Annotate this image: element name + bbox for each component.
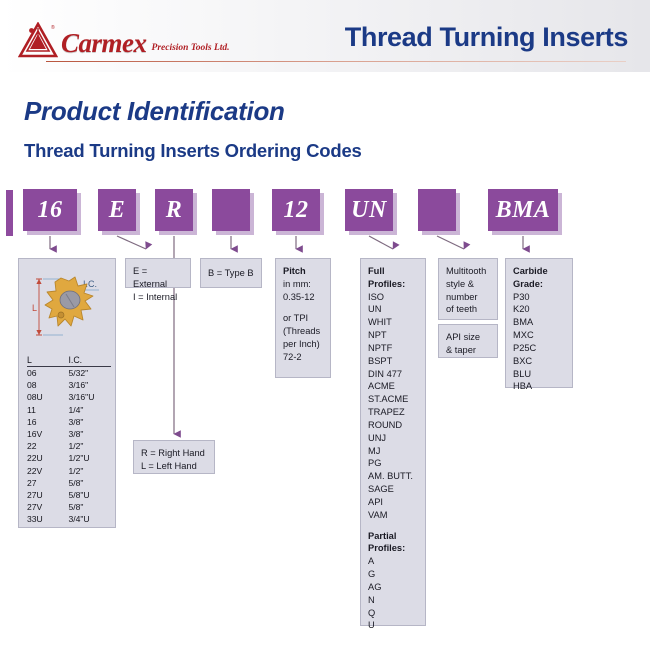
list-item: BMA: [513, 316, 565, 329]
table-row: 22U1/2"U: [27, 452, 111, 464]
table-row: 33U3/4"U: [27, 513, 111, 525]
table-row: 27V5/8": [27, 501, 111, 513]
cell-l: 16V: [27, 428, 48, 440]
line: 0.35-12: [283, 291, 323, 304]
partial-profiles-heading: Partial: [368, 530, 418, 543]
cell-l: 11: [27, 404, 48, 416]
table-row: 275/8": [27, 477, 111, 489]
cell-l: 27V: [27, 501, 48, 513]
thread-profiles-box: Full Profiles: ISOUNWHITNPTNPTFBSPTDIN 4…: [360, 258, 426, 626]
list-item: G: [368, 568, 418, 581]
list-item: AM. BUTT.: [368, 470, 418, 483]
cell-ic: 1/2"U: [48, 452, 111, 464]
carbide-grade-box: Carbide Grade: P30K20BMAMXCP25CBXCBLUHBA: [505, 258, 573, 388]
list-item: HBA: [513, 380, 565, 393]
code-box-4[interactable]: [212, 189, 250, 231]
table-row: 083/16": [27, 379, 111, 391]
carbide-heading: Grade:: [513, 278, 565, 291]
full-profiles-heading: Full: [368, 265, 418, 278]
brand-tagline: Precision Tools Ltd.: [152, 43, 230, 53]
list-item: DIN 477: [368, 368, 418, 381]
line: or TPI: [283, 312, 323, 325]
line: 72-2: [283, 351, 323, 364]
external-internal-box: E = External I = Internal: [125, 258, 191, 288]
line: (Threads: [283, 325, 323, 338]
list-item: BXC: [513, 355, 565, 368]
thread-insert-illustration-icon: L I.C.: [23, 265, 113, 351]
header-title: Thread Turning Inserts: [345, 22, 628, 53]
line: L = Left Hand: [141, 460, 207, 473]
line: per Inch): [283, 338, 323, 351]
list-item: UNJ: [368, 432, 418, 445]
list-item: VAM: [368, 509, 418, 522]
line: I = Internal: [133, 291, 183, 304]
cell-l: 16: [27, 416, 48, 428]
list-item: P25C: [513, 342, 565, 355]
list-item: BSPT: [368, 355, 418, 368]
list-item: ROUND: [368, 419, 418, 432]
cell-l: 22V: [27, 465, 48, 477]
full-profiles-list: ISOUNWHITNPTNPTFBSPTDIN 477ACMEST.ACMETR…: [368, 291, 418, 522]
code-box-1[interactable]: 16: [23, 189, 77, 231]
list-item: PG: [368, 457, 418, 470]
table-header-row: L I.C.: [27, 355, 111, 367]
brand-logo: ® Carmex Precision Tools Ltd.: [18, 22, 230, 58]
list-item: ACME: [368, 380, 418, 393]
list-item: WHIT: [368, 316, 418, 329]
hand-direction-box: R = Right Hand L = Left Hand: [133, 440, 215, 474]
cell-l: 08: [27, 379, 48, 391]
insert-size-table: L I.C. 065/32"083/16"08U3/16"U111/4"163/…: [27, 355, 111, 525]
code-box-8[interactable]: BMA: [488, 189, 558, 231]
cell-ic: 3/16"U: [48, 391, 111, 403]
carbide-grade-list: P30K20BMAMXCP25CBXCBLUHBA: [513, 291, 565, 394]
accent-bar: [6, 190, 13, 236]
carmex-triangle-logo-icon: ®: [18, 22, 58, 58]
cell-l: 06: [27, 367, 48, 380]
code-box-3[interactable]: R: [155, 189, 193, 231]
line: & taper: [446, 344, 490, 357]
cell-l: 33U: [27, 513, 48, 525]
partial-profiles-list: AGAGNQU: [368, 555, 418, 632]
table-row: 16V3/8": [27, 428, 111, 440]
list-item: NPTF: [368, 342, 418, 355]
pitch-heading: Pitch: [283, 265, 323, 278]
table-row: 27U5/8"U: [27, 489, 111, 501]
cell-ic: 1/2": [48, 465, 111, 477]
line: R = Right Hand: [141, 447, 207, 460]
line: E = External: [133, 265, 183, 291]
list-item: TRAPEZ: [368, 406, 418, 419]
line: in mm:: [283, 278, 323, 291]
page-title: Product Identification: [24, 96, 285, 127]
page-subtitle: Thread Turning Inserts Ordering Codes: [24, 140, 362, 162]
list-item: ISO: [368, 291, 418, 304]
list-item: ST.ACME: [368, 393, 418, 406]
cell-ic: 3/8": [48, 416, 111, 428]
list-item: UN: [368, 303, 418, 316]
list-item: SAGE: [368, 483, 418, 496]
svg-text:L: L: [32, 303, 37, 313]
partial-profiles-heading: Profiles:: [368, 542, 418, 555]
list-item: K20: [513, 303, 565, 316]
list-item: BLU: [513, 368, 565, 381]
list-item: MXC: [513, 329, 565, 342]
full-profiles-heading: Profiles:: [368, 278, 418, 291]
carbide-heading: Carbide: [513, 265, 565, 278]
column-header-l: L: [27, 355, 48, 367]
cell-ic: 5/8": [48, 477, 111, 489]
list-item: AG: [368, 581, 418, 594]
list-item: A: [368, 555, 418, 568]
list-item: P30: [513, 291, 565, 304]
column-header-ic: I.C.: [48, 355, 111, 367]
line: of teeth: [446, 303, 490, 316]
svg-text:®: ®: [51, 24, 55, 31]
list-item: Q: [368, 607, 418, 620]
table-row: 111/4": [27, 404, 111, 416]
page-header: ® Carmex Precision Tools Ltd. Thread Tur…: [0, 0, 650, 72]
cell-ic: 5/32": [48, 367, 111, 380]
list-item: N: [368, 594, 418, 607]
line: style &: [446, 278, 490, 291]
table-row: 221/2": [27, 440, 111, 452]
cell-ic: 3/4"U: [48, 513, 111, 525]
cell-l: 08U: [27, 391, 48, 403]
line: B = Type B: [208, 267, 254, 280]
line: Multitooth: [446, 265, 490, 278]
multitooth-box: Multitooth style & number of teeth: [438, 258, 498, 320]
cell-ic: 1/4": [48, 404, 111, 416]
table-row: 065/32": [27, 367, 111, 380]
pitch-box: Pitch in mm: 0.35-12 or TPI (Threads per…: [275, 258, 331, 378]
cell-l: 27: [27, 477, 48, 489]
line: API size: [446, 331, 490, 344]
cell-ic: 3/8": [48, 428, 111, 440]
code-box-5[interactable]: 12: [272, 189, 320, 231]
cell-ic: 5/8": [48, 501, 111, 513]
list-item: NPT: [368, 329, 418, 342]
type-b-box: B = Type B: [200, 258, 262, 288]
code-box-6[interactable]: UN: [345, 189, 393, 231]
insert-size-panel: L I.C. L I.C. 065/32"083/16"08U3/16"U111…: [18, 258, 116, 528]
header-divider: [46, 61, 626, 62]
cell-ic: 5/8"U: [48, 489, 111, 501]
cell-l: 22: [27, 440, 48, 452]
table-row: 22V1/2": [27, 465, 111, 477]
list-item: API: [368, 496, 418, 509]
list-item: MJ: [368, 445, 418, 458]
code-box-2[interactable]: E: [98, 189, 136, 231]
cell-l: 27U: [27, 489, 48, 501]
brand-name: Carmex: [61, 30, 147, 57]
table-row: 163/8": [27, 416, 111, 428]
cell-ic: 1/2": [48, 440, 111, 452]
code-box-7[interactable]: [418, 189, 456, 231]
cell-l: 22U: [27, 452, 48, 464]
line: number: [446, 291, 490, 304]
api-size-box: API size & taper: [438, 324, 498, 358]
list-item: U: [368, 619, 418, 632]
table-row: 08U3/16"U: [27, 391, 111, 403]
cell-ic: 3/16": [48, 379, 111, 391]
